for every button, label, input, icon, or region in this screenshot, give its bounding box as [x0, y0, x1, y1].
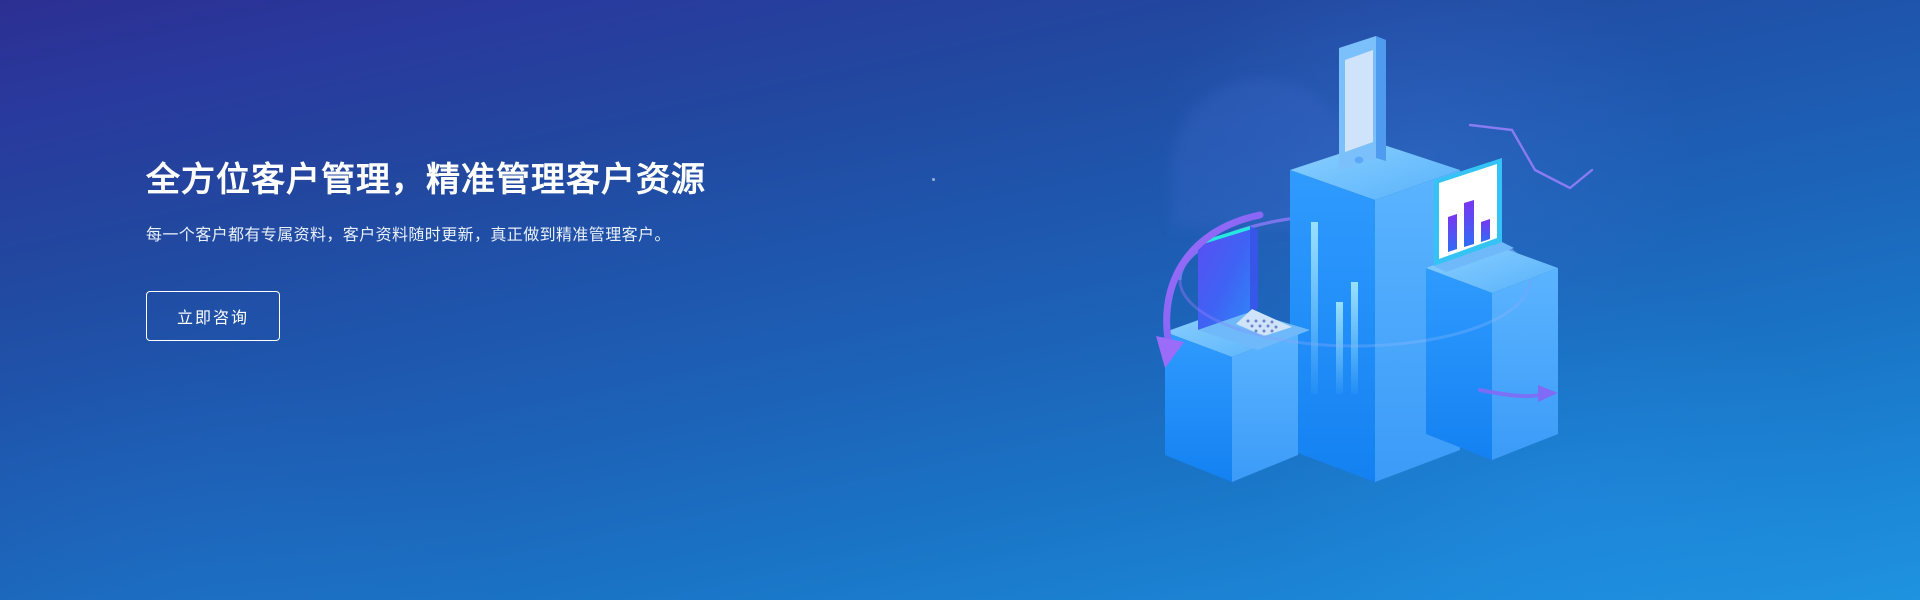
- hero-subtitle: 每一个客户都有专属资料，客户资料随时更新，真正做到精准管理客户。: [146, 223, 726, 249]
- hero-copy-block: 全方位客户管理，精准管理客户资源 每一个客户都有专属资料，客户资料随时更新，真正…: [146, 160, 786, 341]
- tablet-device: [1339, 36, 1386, 171]
- pillar-right: [1426, 244, 1558, 460]
- consult-now-button[interactable]: 立即咨询: [146, 291, 280, 341]
- hero-illustration: [1140, 30, 1600, 490]
- sparkle-dot-icon: [932, 178, 935, 181]
- page-title: 全方位客户管理，精准管理客户资源: [146, 160, 786, 201]
- hero-banner: 全方位客户管理，精准管理客户资源 每一个客户都有专属资料，客户资料随时更新，真正…: [0, 0, 1920, 600]
